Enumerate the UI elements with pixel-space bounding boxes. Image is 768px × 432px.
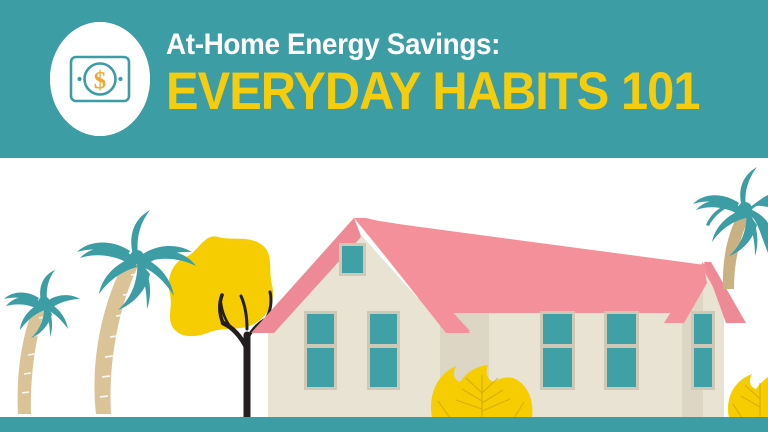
svg-text:$: $ bbox=[94, 68, 107, 95]
side-window-3[interactable] bbox=[691, 311, 715, 390]
attic-window[interactable] bbox=[339, 243, 366, 276]
money-bill-icon: $ bbox=[50, 22, 150, 136]
header-title-block: At-Home Energy Savings: EVERYDAY HABITS … bbox=[166, 28, 766, 136]
palm-tree-small-left bbox=[4, 270, 80, 414]
front-window-right[interactable] bbox=[367, 311, 400, 390]
header-banner: $ At-Home Energy Savings: EVERYDAY HABIT… bbox=[0, 0, 768, 158]
illustration-scene bbox=[0, 161, 768, 432]
bush-right bbox=[728, 374, 768, 418]
page-title: EVERYDAY HABITS 101 bbox=[166, 64, 718, 120]
page-subtitle: At-Home Energy Savings: bbox=[166, 28, 724, 62]
side-window-2[interactable] bbox=[604, 311, 639, 390]
side-window-1[interactable] bbox=[540, 311, 575, 390]
poster-root: $ At-Home Energy Savings: EVERYDAY HABIT… bbox=[0, 0, 768, 432]
front-window-left[interactable] bbox=[304, 311, 337, 390]
ground-strip bbox=[0, 417, 768, 432]
